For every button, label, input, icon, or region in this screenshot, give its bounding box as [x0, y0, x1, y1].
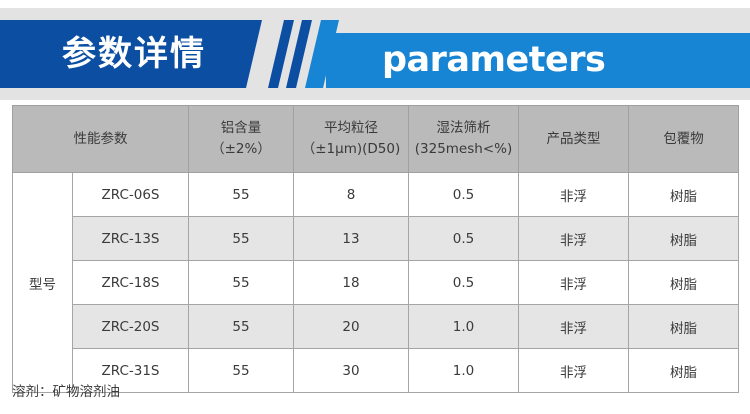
- table-row: ZRC-20S 55 20 1.0 非浮 树脂: [13, 305, 739, 349]
- table-row: ZRC-31S 55 30 1.0 非浮 树脂: [13, 349, 739, 393]
- cell-product-type: 非浮: [519, 217, 629, 261]
- cell-product-type: 非浮: [519, 261, 629, 305]
- solvent-footnote: 溶剂：矿物溶剂油: [12, 380, 120, 400]
- header-line-1: 性能参数: [14, 129, 187, 150]
- cell-model: ZRC-06S: [73, 173, 189, 217]
- table-header-cell-5: 包覆物: [629, 106, 739, 173]
- table-header-cell-2: 平均粒径 （±1μm)(D50): [294, 106, 409, 173]
- cell-wet-sieve: 0.5: [409, 217, 519, 261]
- cell-particle-size: 20: [294, 305, 409, 349]
- cell-particle-size: 8: [294, 173, 409, 217]
- header-line-1: 湿法筛析: [410, 118, 517, 139]
- cell-particle-size: 18: [294, 261, 409, 305]
- header-line-2: (325mesh<%): [410, 139, 517, 160]
- header-line-2: （±1μm)(D50): [295, 139, 407, 160]
- banner-title-cn: 参数详情: [62, 28, 252, 80]
- header-line-1: 平均粒径: [295, 118, 407, 139]
- table-header-cell-0: 性能参数: [13, 106, 189, 173]
- cell-particle-size: 30: [294, 349, 409, 393]
- cell-wet-sieve: 1.0: [409, 305, 519, 349]
- table-header-cell-3: 湿法筛析 (325mesh<%): [409, 106, 519, 173]
- header-line-1: 产品类型: [520, 129, 627, 150]
- cell-product-type: 非浮: [519, 305, 629, 349]
- cell-particle-size: 13: [294, 217, 409, 261]
- table-header-cell-4: 产品类型: [519, 106, 629, 173]
- table-row: ZRC-13S 55 13 0.5 非浮 树脂: [13, 217, 739, 261]
- banner-title-en: parameters: [382, 33, 605, 88]
- header-line-1: 铝含量: [190, 118, 292, 139]
- cell-coating: 树脂: [629, 173, 739, 217]
- cell-coating: 树脂: [629, 349, 739, 393]
- cell-product-type: 非浮: [519, 173, 629, 217]
- cell-wet-sieve: 1.0: [409, 349, 519, 393]
- cell-wet-sieve: 0.5: [409, 173, 519, 217]
- cell-coating: 树脂: [629, 305, 739, 349]
- cell-coating: 树脂: [629, 261, 739, 305]
- cell-al-content: 55: [189, 349, 294, 393]
- cell-model: ZRC-18S: [73, 261, 189, 305]
- cell-product-type: 非浮: [519, 349, 629, 393]
- spec-table: 性能参数 铝含量 （±2%） 平均粒径 （±1μm)(D50) 湿法筛析 (32…: [12, 105, 739, 393]
- table-row: 型号 ZRC-06S 55 8 0.5 非浮 树脂: [13, 173, 739, 217]
- cell-al-content: 55: [189, 261, 294, 305]
- cell-wet-sieve: 0.5: [409, 261, 519, 305]
- cell-model: ZRC-13S: [73, 217, 189, 261]
- table-row: ZRC-18S 55 18 0.5 非浮 树脂: [13, 261, 739, 305]
- header-line-2: （±2%）: [190, 139, 292, 160]
- cell-coating: 树脂: [629, 217, 739, 261]
- header-line-1: 包覆物: [630, 129, 737, 150]
- table-header-cell-1: 铝含量 （±2%）: [189, 106, 294, 173]
- cell-al-content: 55: [189, 305, 294, 349]
- cell-al-content: 55: [189, 173, 294, 217]
- spec-table-container: 性能参数 铝含量 （±2%） 平均粒径 （±1μm)(D50) 湿法筛析 (32…: [12, 105, 738, 393]
- cell-model: ZRC-20S: [73, 305, 189, 349]
- cell-al-content: 55: [189, 217, 294, 261]
- row-group-label: 型号: [13, 173, 73, 393]
- table-header-row: 性能参数 铝含量 （±2%） 平均粒径 （±1μm)(D50) 湿法筛析 (32…: [13, 106, 739, 173]
- page-banner: 参数详情 parameters: [0, 0, 750, 100]
